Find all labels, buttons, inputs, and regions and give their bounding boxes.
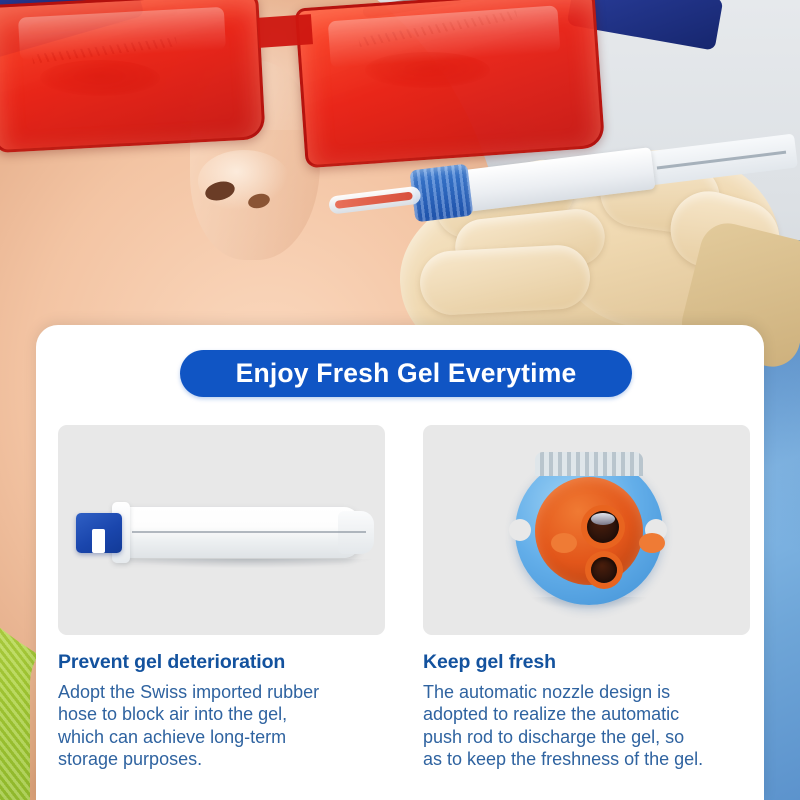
- headline-banner: Enjoy Fresh Gel Everytime: [180, 350, 632, 397]
- automatic-nozzle-front-view: [515, 457, 663, 605]
- product-image-nozzle[interactable]: [423, 425, 750, 635]
- nozzle-port-lower: [591, 557, 617, 583]
- nozzle-lug: [639, 533, 665, 553]
- feature-body: Adopt the Swiss imported rubber hose to …: [58, 681, 385, 770]
- feature-body-line: adopted to realize the automatic: [423, 703, 750, 725]
- glasses-bridge: [257, 14, 313, 48]
- cartridge-blue-clip: [76, 513, 122, 553]
- feature-column-keep-gel-fresh: Keep gel fresh The automatic nozzle desi…: [423, 425, 750, 770]
- nozzle-notch-left: [509, 519, 531, 541]
- dual-barrel-gel-cartridge: [76, 505, 371, 560]
- feature-columns: Prevent gel deterioration Adopt the Swis…: [36, 425, 764, 770]
- feature-body-line: push rod to discharge the gel, so: [423, 726, 750, 748]
- feature-body-line: which can achieve long-term: [58, 726, 385, 748]
- feature-body-line: storage purposes.: [58, 748, 385, 770]
- headline-text: Enjoy Fresh Gel Everytime: [236, 358, 577, 389]
- feature-body: The automatic nozzle design is adopted t…: [423, 681, 750, 770]
- feature-title: Keep gel fresh: [423, 651, 750, 674]
- syringe-barrel: [462, 147, 656, 212]
- feature-title: Prevent gel deterioration: [58, 651, 385, 674]
- cartridge-shadow: [122, 559, 372, 568]
- glasses-lens-left: [0, 0, 266, 153]
- nozzle-port-highlight: [591, 513, 615, 525]
- feature-card: Enjoy Fresh Gel Everytime: [36, 325, 764, 800]
- nozzle-lug: [551, 533, 577, 553]
- feature-column-prevent-gel-deterioration: Prevent gel deterioration Adopt the Swis…: [58, 425, 385, 770]
- glove-finger: [418, 244, 591, 317]
- feature-body-line: The automatic nozzle design is: [423, 681, 750, 703]
- feature-body-line: Adopt the Swiss imported rubber: [58, 681, 385, 703]
- nozzle-orange-hub: [535, 477, 643, 585]
- product-infographic: Enjoy Fresh Gel Everytime: [0, 0, 800, 800]
- lens-glare-right: [328, 6, 560, 68]
- cartridge-seam: [132, 531, 366, 533]
- lens-glare-left: [18, 7, 226, 60]
- feature-body-line: hose to block air into the gel,: [58, 703, 385, 725]
- nozzle-ridged-top: [535, 452, 643, 476]
- product-image-cartridge[interactable]: [58, 425, 385, 635]
- feature-body-line: as to keep the freshness of the gel.: [423, 748, 750, 770]
- clip-slot: [92, 529, 105, 553]
